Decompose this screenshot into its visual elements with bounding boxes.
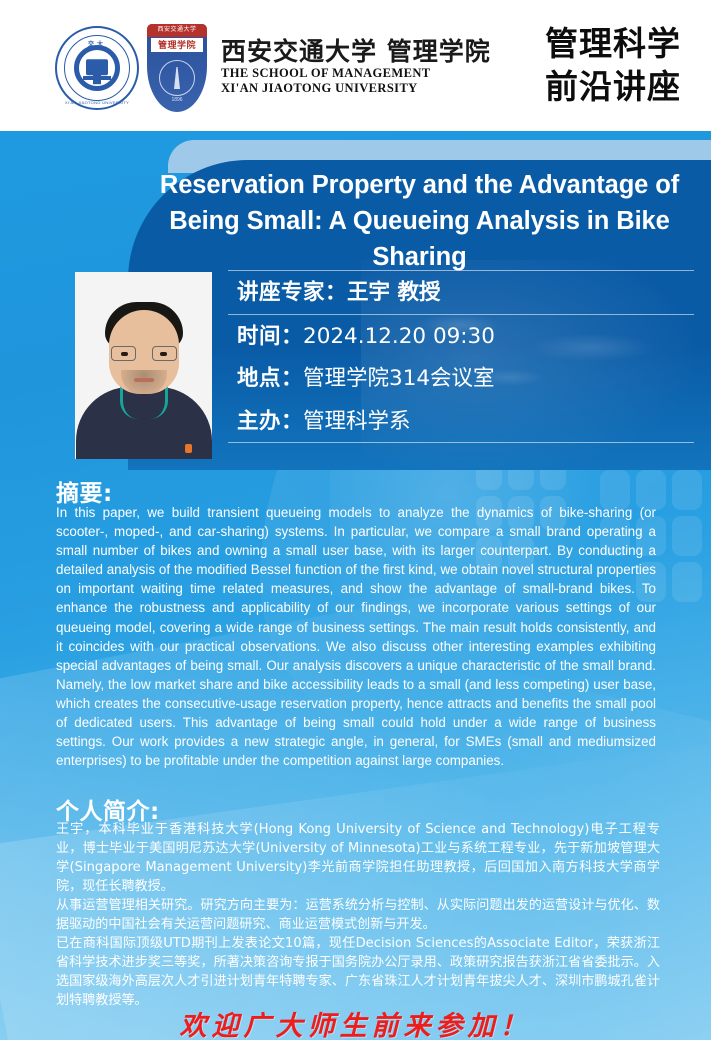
- place-value: 管理学院314会议室: [303, 366, 495, 391]
- info-row-time: 时间：2024.12.20 09:30: [228, 315, 694, 358]
- school-wordmark: 西安交通大学 管理学院 THE SCHOOL OF MANAGEMENT XI'…: [221, 39, 491, 97]
- info-divider: [228, 442, 694, 443]
- wordmark-en-line1: THE SCHOOL OF MANAGEMENT: [221, 66, 491, 82]
- crest-cap2-text: 管理学院: [151, 38, 203, 52]
- talk-info-list: 讲座专家：王宇 教授 时间：2024.12.20 09:30 地点：管理学院31…: [228, 270, 694, 443]
- photo-mouth: [134, 378, 154, 382]
- welcome-message: 欢迎广大师生前来参加！: [0, 1004, 711, 1040]
- place-label: 地点：: [237, 366, 303, 391]
- series-title: 管理科学 前沿讲座: [545, 23, 681, 109]
- info-row-host: 主办：管理科学系: [228, 400, 694, 443]
- wordmark-cn: 西安交通大学 管理学院: [221, 39, 491, 65]
- photo-eye-left: [121, 352, 128, 356]
- seal-ring-text: XI'AN JIAOTONG UNIVERSITY: [57, 100, 137, 105]
- host-value: 管理科学系: [303, 409, 411, 434]
- seal-anvil: [86, 59, 108, 75]
- crest-tower: [159, 60, 195, 96]
- bio-body: 王宇，本科毕业于香港科技大学(Hong Kong University of S…: [56, 820, 660, 1010]
- crest-year: 1896: [147, 97, 207, 103]
- crest-cap-text: 西安交通大学: [147, 24, 207, 37]
- speaker-label: 讲座专家：: [237, 280, 347, 305]
- photo-eye-right: [160, 352, 167, 356]
- wordmark-en-line2: XI'AN JIAOTONG UNIVERSITY: [221, 81, 491, 97]
- background-tile: [672, 470, 702, 510]
- series-title-line2: 前沿讲座: [545, 66, 681, 109]
- info-row-speaker: 讲座专家：王宇 教授: [228, 271, 694, 314]
- header-band: 交大 XI'AN JIAOTONG UNIVERSITY 西安交通大学 管理学院…: [0, 0, 711, 131]
- photo-shirt-logo: [185, 444, 192, 453]
- seal-base: [83, 76, 111, 80]
- lecture-poster: 交大 XI'AN JIAOTONG UNIVERSITY 西安交通大学 管理学院…: [0, 0, 711, 1040]
- info-row-place: 地点：管理学院314会议室: [228, 357, 694, 400]
- bio-paragraph: 从事运营管理相关研究。研究方向主要为：运营系统分析与控制、从实际问题出发的运营设…: [56, 896, 660, 934]
- host-label: 主办：: [237, 409, 303, 434]
- bio-paragraph: 已在商科国际顶级UTD期刊上发表论文10篇，现任Decision Science…: [56, 934, 660, 1010]
- school-crest-icon: 西安交通大学 管理学院 1896: [147, 24, 207, 112]
- talk-title: Reservation Property and the Advantage o…: [128, 167, 711, 276]
- series-title-line1: 管理科学: [545, 23, 681, 66]
- xjtu-seal-icon: 交大 XI'AN JIAOTONG UNIVERSITY: [55, 26, 139, 110]
- bio-paragraph: 王宇，本科毕业于香港科技大学(Hong Kong University of S…: [56, 820, 660, 896]
- speaker-value: 王宇 教授: [347, 280, 441, 305]
- time-value: 2024.12.20 09:30: [303, 324, 495, 349]
- speaker-photo: [75, 272, 212, 459]
- abstract-body: In this paper, we build transient queuei…: [56, 503, 656, 770]
- logo-group: 交大 XI'AN JIAOTONG UNIVERSITY 西安交通大学 管理学院…: [55, 22, 491, 114]
- time-label: 时间：: [237, 324, 303, 349]
